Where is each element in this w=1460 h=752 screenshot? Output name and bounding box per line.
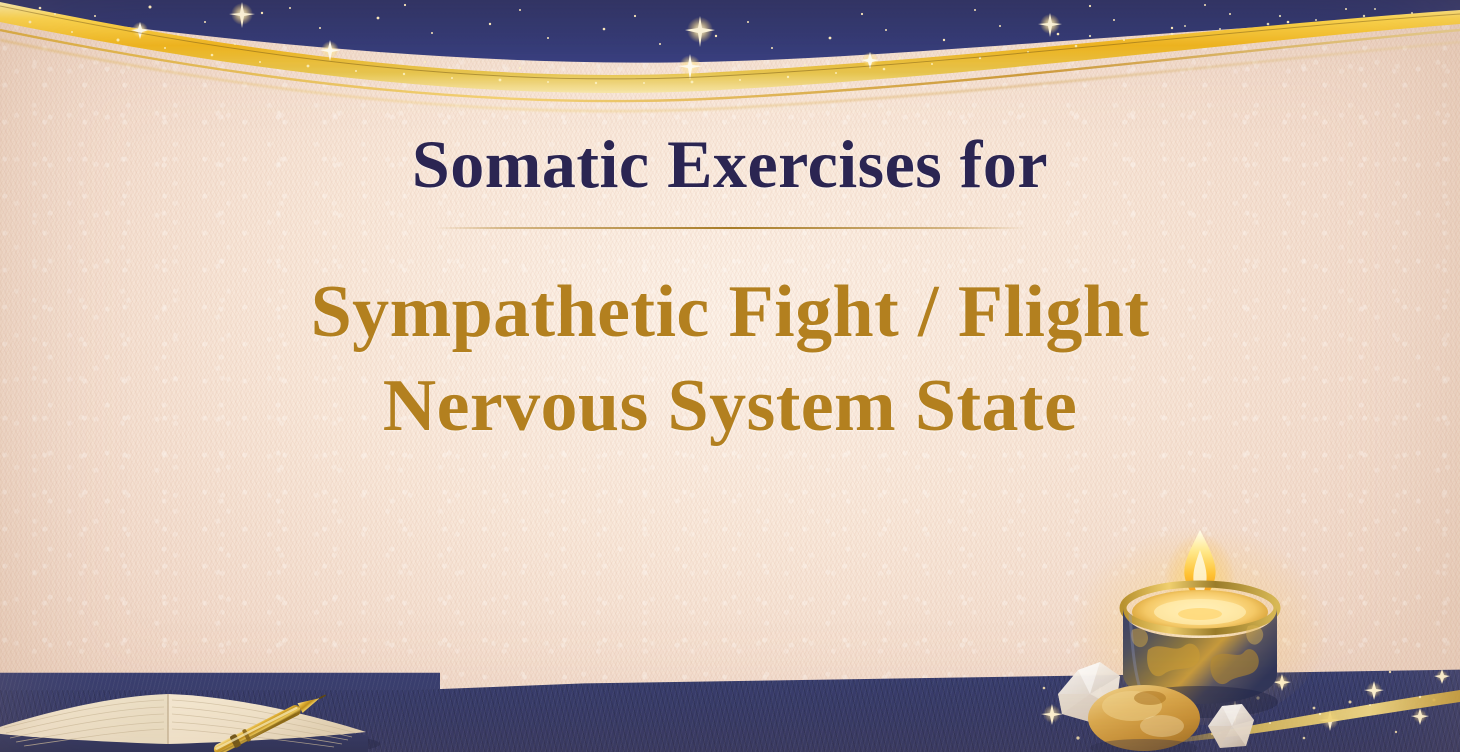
slide-content: Somatic Exercises for Sympathetic Fight … [0, 128, 1460, 454]
subtitle-line-1: Sympathetic Fight / Flight [0, 266, 1460, 360]
open-journal [0, 632, 390, 752]
slide-canvas: Somatic Exercises for Sympathetic Fight … [0, 0, 1460, 752]
gold-divider [434, 227, 1026, 230]
subtitle-line-2: Nervous System State [0, 360, 1460, 454]
slide-title: Somatic Exercises for [0, 128, 1460, 201]
slide-subtitle: Sympathetic Fight / Flight Nervous Syste… [0, 266, 1460, 454]
candle-and-crystals [1052, 502, 1382, 752]
gold-divider-line [434, 227, 1026, 229]
top-decorative-border [0, 0, 1460, 120]
